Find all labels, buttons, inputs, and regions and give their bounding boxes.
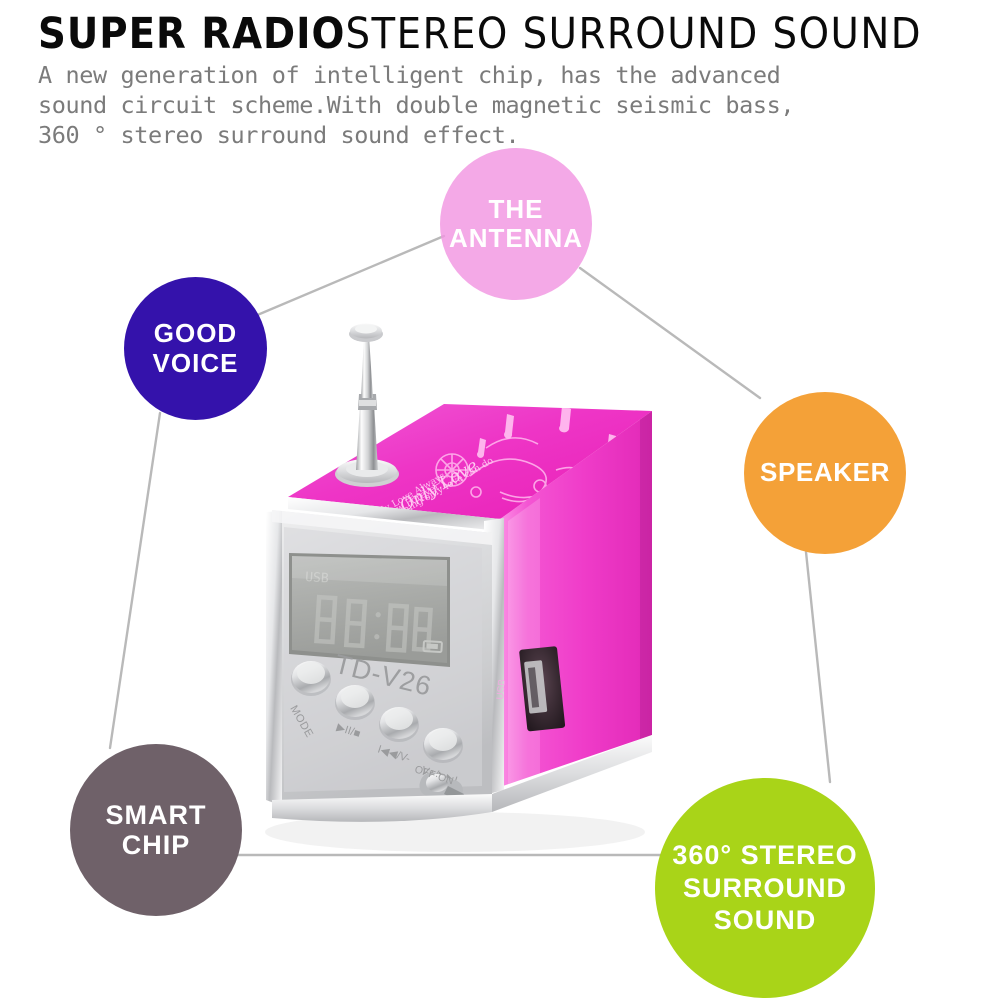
usb-port-label: USB: [495, 678, 508, 700]
product-image-td-v26-speaker: Only Love Only Love Always, Only Now For…: [0, 0, 1001, 1001]
speaker-side-highlight: [508, 498, 540, 784]
infographic-canvas: SUPER RADIOSTEREO SURROUND SOUND A new g…: [0, 0, 1001, 1001]
speaker-side-edge-shade: [640, 411, 652, 739]
antenna-tip: [349, 324, 383, 343]
antenna-upper-rod: [361, 336, 373, 398]
speaker-front-left-chrome-bezel: [266, 511, 282, 806]
antenna-lower-segment: [356, 404, 378, 470]
